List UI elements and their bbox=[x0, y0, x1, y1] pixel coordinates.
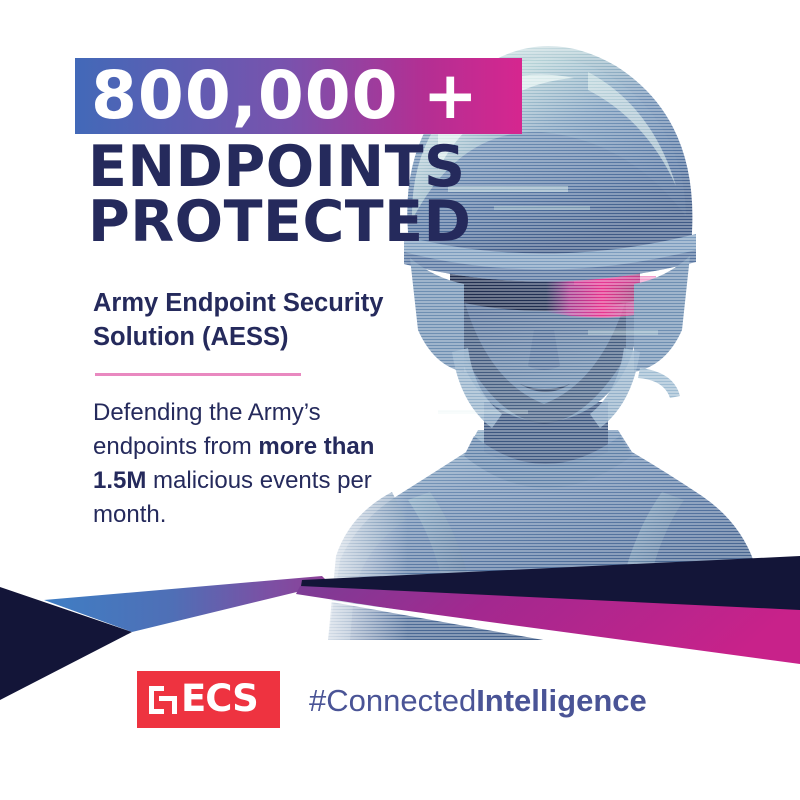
ecs-logo[interactable]: ECS bbox=[137, 671, 280, 728]
stat-number: 800,000 + bbox=[91, 63, 479, 129]
body-paragraph: Defending the Army’s endpoints from more… bbox=[93, 396, 383, 532]
headline-line-2: PROTECTED bbox=[88, 195, 471, 250]
navy-triangle-bottom-left bbox=[0, 587, 132, 700]
ecs-bracket-mark-icon bbox=[148, 685, 178, 715]
headline-block: ENDPOINTS PROTECTED bbox=[88, 140, 471, 251]
ecs-wordmark: ECS bbox=[181, 680, 258, 717]
headline-line-1: ENDPOINTS bbox=[88, 140, 471, 195]
subheading-line-2: Solution (AESS) bbox=[93, 321, 443, 355]
hashtag-bold-part: Intelligence bbox=[476, 683, 647, 718]
hashtag-light-part: #Connected bbox=[309, 683, 476, 718]
poster-canvas: 800,000 + ENDPOINTS PROTECTED Army Endpo… bbox=[0, 0, 800, 800]
stat-number-bar: 800,000 + bbox=[75, 58, 522, 134]
pink-divider-rule bbox=[95, 373, 301, 376]
hashtag-tagline: #ConnectedIntelligence bbox=[309, 685, 647, 716]
subheading-line-1: Army Endpoint Security bbox=[93, 287, 443, 321]
subheading-block: Army Endpoint Security Solution (AESS) bbox=[93, 287, 443, 354]
